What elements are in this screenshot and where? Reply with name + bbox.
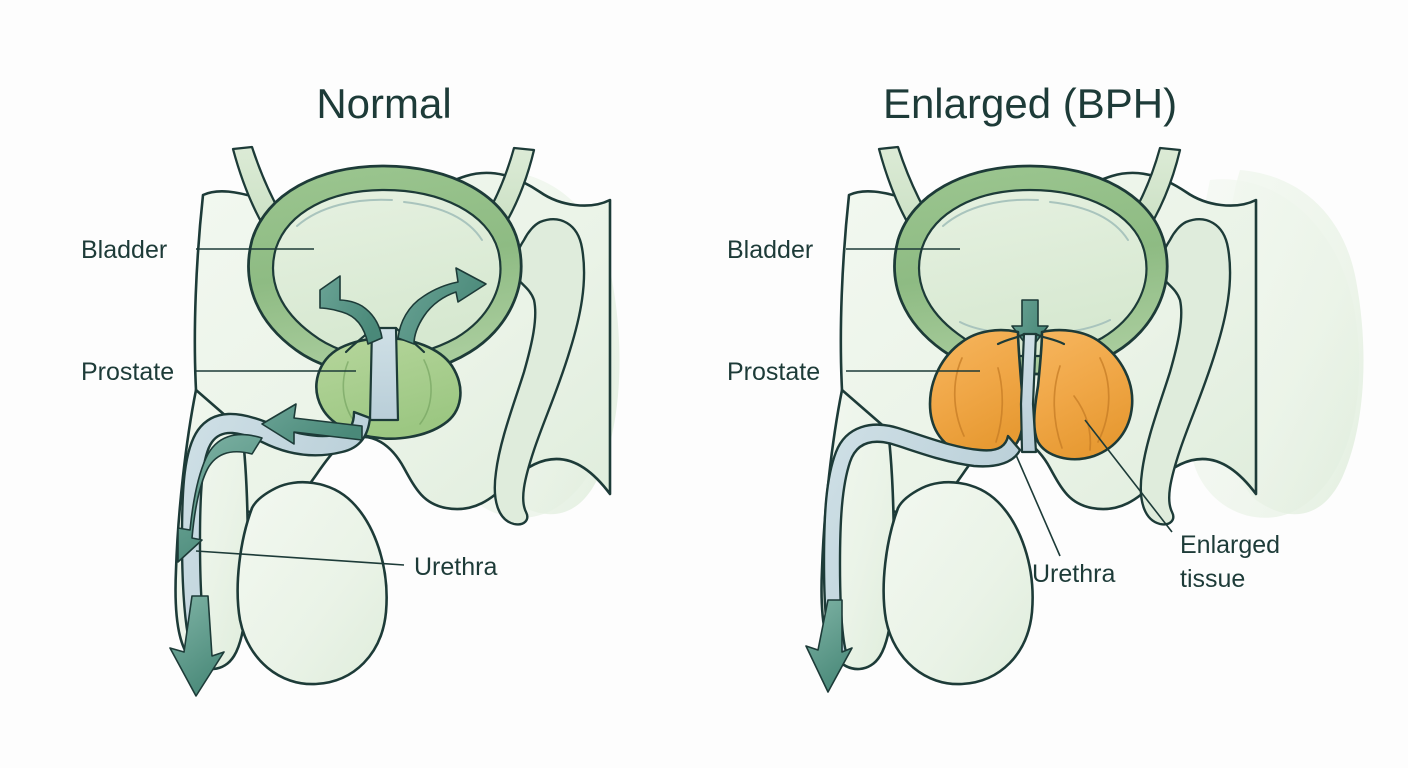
label-prostate-right: Prostate xyxy=(727,358,820,386)
prostate-comparison-figure: Normal xyxy=(0,0,1408,768)
scrotum-left xyxy=(238,482,387,684)
diagram-canvas: Normal xyxy=(0,0,1408,768)
panel-enlarged: Enlarged (BPH) xyxy=(727,80,1364,692)
panel-title-enlarged: Enlarged (BPH) xyxy=(883,80,1177,127)
panel-normal: Normal xyxy=(81,80,620,696)
panel-title-normal: Normal xyxy=(316,80,451,127)
label-bladder-right: Bladder xyxy=(727,236,813,264)
label-enlarged-tissue-line2: tissue xyxy=(1180,565,1245,593)
label-urethra-left: Urethra xyxy=(414,553,497,581)
compressed-urethra-right xyxy=(1021,334,1036,452)
label-enlarged-tissue-line1: Enlarged xyxy=(1180,531,1280,559)
scrotum-right xyxy=(884,482,1033,684)
label-prostate-left: Prostate xyxy=(81,358,174,386)
label-urethra-right: Urethra xyxy=(1032,560,1115,588)
label-bladder-left: Bladder xyxy=(81,236,167,264)
